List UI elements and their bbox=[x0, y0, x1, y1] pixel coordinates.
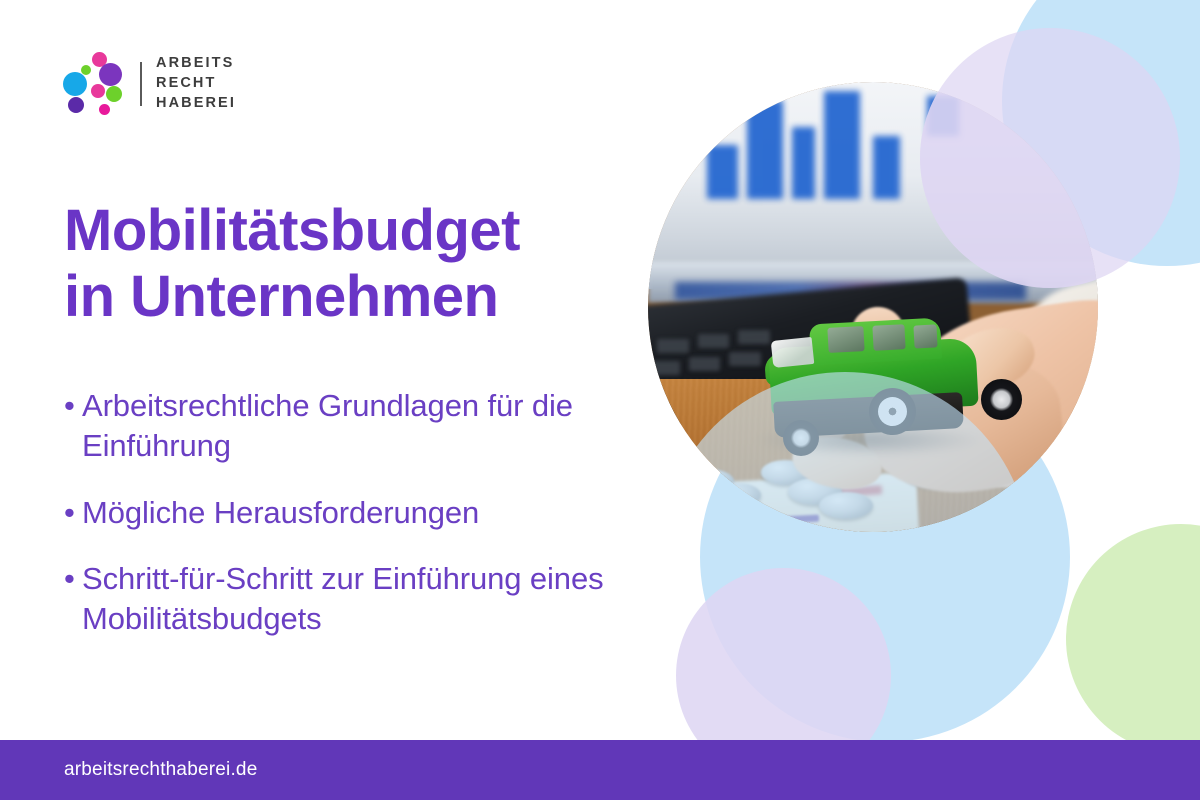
page-title: Mobilitätsbudget in Unternehmen bbox=[64, 198, 664, 330]
logo-wordmark: ARBEITS RECHT HABEREI bbox=[156, 55, 236, 112]
dots-cluster-logo-icon bbox=[62, 52, 126, 116]
page-title-line-2: in Unternehmen bbox=[64, 264, 664, 330]
list-item-label: Mögliche Herausforderungen bbox=[82, 493, 674, 533]
circle-top-right-lavender bbox=[920, 28, 1180, 288]
logo-dot-magenta-small bbox=[99, 104, 110, 115]
logo-dot-purple-small bbox=[68, 97, 84, 113]
list-item: • Mögliche Herausforderungen bbox=[64, 493, 674, 533]
logo-word-line-1: ARBEITS bbox=[156, 55, 236, 73]
list-item-label: Arbeitsrechtliche Grundlagen für die Ein… bbox=[82, 386, 674, 467]
list-item: • Arbeitsrechtliche Grundlagen für die E… bbox=[64, 386, 674, 467]
footer-bar: arbeitsrechthaberei.de bbox=[0, 740, 1200, 800]
logo-dot-purple-large bbox=[99, 63, 122, 86]
logo-dot-pink-mid bbox=[91, 84, 105, 98]
brand-logo[interactable]: ARBEITS RECHT HABEREI bbox=[62, 52, 236, 116]
bullet-point-icon: • bbox=[64, 559, 82, 599]
bullet-list: • Arbeitsrechtliche Grundlagen für die E… bbox=[64, 386, 674, 639]
page-title-line-1: Mobilitätsbudget bbox=[64, 198, 520, 263]
logo-dot-green-mid bbox=[106, 86, 122, 102]
website-url[interactable]: arbeitsrechthaberei.de bbox=[64, 759, 257, 781]
logo-divider bbox=[140, 62, 142, 106]
bullet-point-icon: • bbox=[64, 493, 82, 533]
logo-dot-cyan-large bbox=[63, 72, 87, 96]
bullet-point-icon: • bbox=[64, 386, 82, 426]
poster-canvas: ARBEITS RECHT HABEREI Mobilitätsbudget i… bbox=[0, 0, 1200, 800]
logo-word-line-3: HABEREI bbox=[156, 95, 236, 113]
list-item-label: Schritt-für-Schritt zur Einführung eines… bbox=[82, 559, 674, 640]
logo-word-line-2: RECHT bbox=[156, 75, 236, 93]
logo-dot-green-small bbox=[81, 65, 91, 75]
list-item: • Schritt-für-Schritt zur Einführung ein… bbox=[64, 559, 674, 640]
